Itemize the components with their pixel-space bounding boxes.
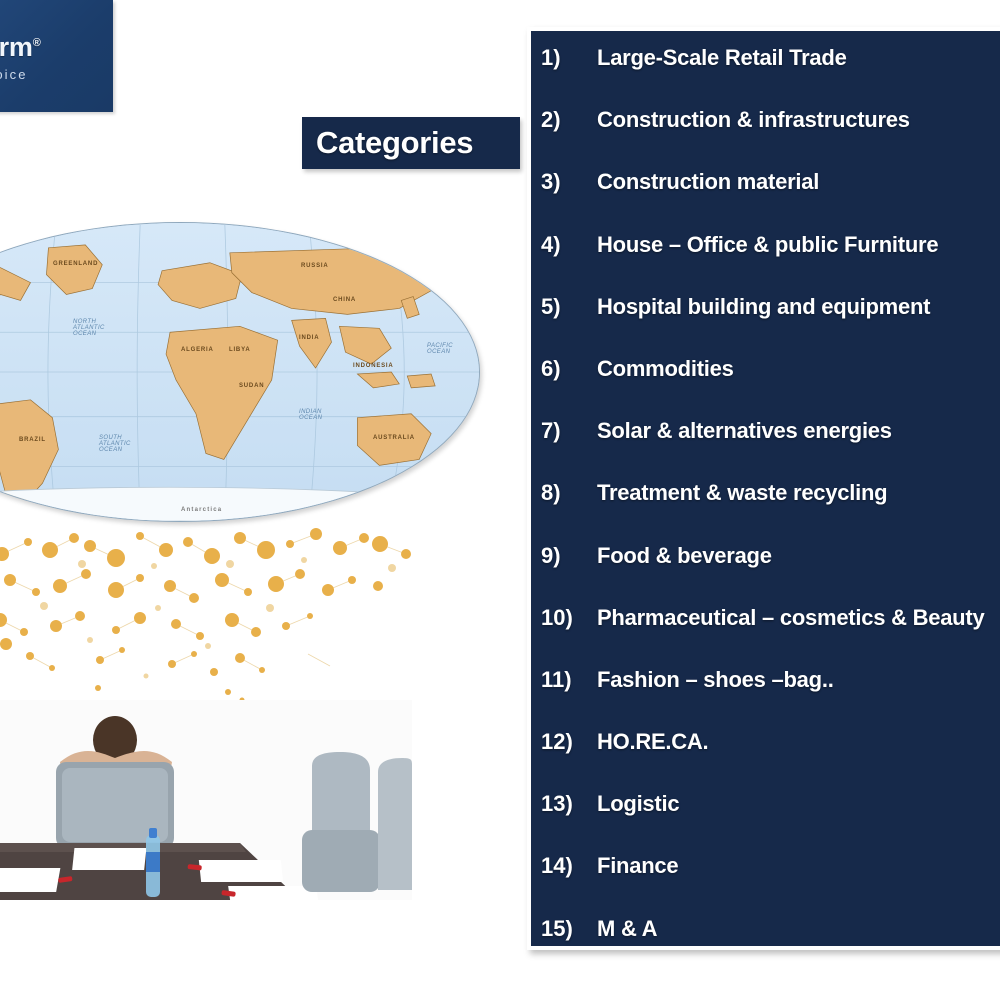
list-item[interactable]: 1) Large-Scale Retail Trade <box>531 45 1000 107</box>
list-item[interactable]: 11) Fashion – shoes –bag.. <box>531 667 1000 729</box>
list-item-number: 2) <box>541 107 597 133</box>
categories-title-box: Categories <box>302 117 520 169</box>
list-item-label: Hospital building and equipment <box>597 294 930 320</box>
list-item-label: Commodities <box>597 356 734 382</box>
list-item-label: Treatment & waste recycling <box>597 480 887 506</box>
list-item-label: Fashion – shoes –bag.. <box>597 667 834 693</box>
world-map-svg <box>0 223 479 521</box>
slide-canvas: Form® t choice <box>0 0 1000 1000</box>
list-item-number: 13) <box>541 791 597 817</box>
list-item-number: 1) <box>541 45 597 71</box>
list-item[interactable]: 5) Hospital building and equipment <box>531 294 1000 356</box>
list-item[interactable]: 14) Finance <box>531 853 1000 915</box>
list-item-label: Construction & infrastructures <box>597 107 910 133</box>
meeting-room-photo <box>0 700 412 900</box>
page-title: Categories <box>302 125 473 161</box>
list-item-number: 5) <box>541 294 597 320</box>
network-dots-svg <box>0 520 440 720</box>
list-item[interactable]: 8) Treatment & waste recycling <box>531 480 1000 542</box>
list-item-number: 15) <box>541 916 597 942</box>
world-map-image: CANADA UNITED STATES GREENLAND RUSSIA BR… <box>0 222 480 522</box>
logo-brand-text: Form® <box>0 32 113 63</box>
list-item-label: HO.RE.CA. <box>597 729 708 755</box>
list-item[interactable]: 4) House – Office & public Furniture <box>531 232 1000 294</box>
list-item[interactable]: 9) Food & beverage <box>531 543 1000 605</box>
list-item-number: 12) <box>541 729 597 755</box>
world-map-ellipse: CANADA UNITED STATES GREENLAND RUSSIA BR… <box>0 222 480 522</box>
company-logo[interactable]: Form® t choice <box>0 0 113 112</box>
list-item-label: Large-Scale Retail Trade <box>597 45 847 71</box>
list-item-label: Logistic <box>597 791 679 817</box>
list-item-number: 11) <box>541 667 597 693</box>
logo-tagline: t choice <box>0 67 113 82</box>
list-item-number: 6) <box>541 356 597 382</box>
list-item-label: House – Office & public Furniture <box>597 232 938 258</box>
categories-list-panel: 1) Large-Scale Retail Trade 2) Construct… <box>527 27 1000 950</box>
list-item[interactable]: 6) Commodities <box>531 356 1000 418</box>
list-item-number: 9) <box>541 543 597 569</box>
registered-trademark-icon: ® <box>33 37 41 49</box>
logo-inner: Form® t choice <box>0 32 113 82</box>
categories-list: 1) Large-Scale Retail Trade 2) Construct… <box>531 31 1000 946</box>
list-item[interactable]: 2) Construction & infrastructures <box>531 107 1000 169</box>
list-item-number: 4) <box>541 232 597 258</box>
list-item-label: M & A <box>597 916 657 942</box>
list-item[interactable]: 3) Construction material <box>531 169 1000 231</box>
list-item-number: 8) <box>541 480 597 506</box>
list-item[interactable]: 13) Logistic <box>531 791 1000 853</box>
list-item-number: 3) <box>541 169 597 195</box>
list-item[interactable]: 10) Pharmaceutical – cosmetics & Beauty <box>531 605 1000 667</box>
meeting-room-svg <box>0 700 412 900</box>
list-item-label: Finance <box>597 853 678 879</box>
list-item[interactable]: 15) M & A <box>531 916 1000 950</box>
list-item[interactable]: 7) Solar & alternatives energies <box>531 418 1000 480</box>
list-item-label: Solar & alternatives energies <box>597 418 892 444</box>
list-item-number: 7) <box>541 418 597 444</box>
list-item-label: Construction material <box>597 169 819 195</box>
network-dots-graphic <box>0 520 440 720</box>
list-item-label: Food & beverage <box>597 543 772 569</box>
list-item[interactable]: 12) HO.RE.CA. <box>531 729 1000 791</box>
logo-brand-word: Form <box>0 32 33 62</box>
list-item-label: Pharmaceutical – cosmetics & Beauty <box>597 605 984 631</box>
list-item-number: 14) <box>541 853 597 879</box>
list-item-number: 10) <box>541 605 597 631</box>
